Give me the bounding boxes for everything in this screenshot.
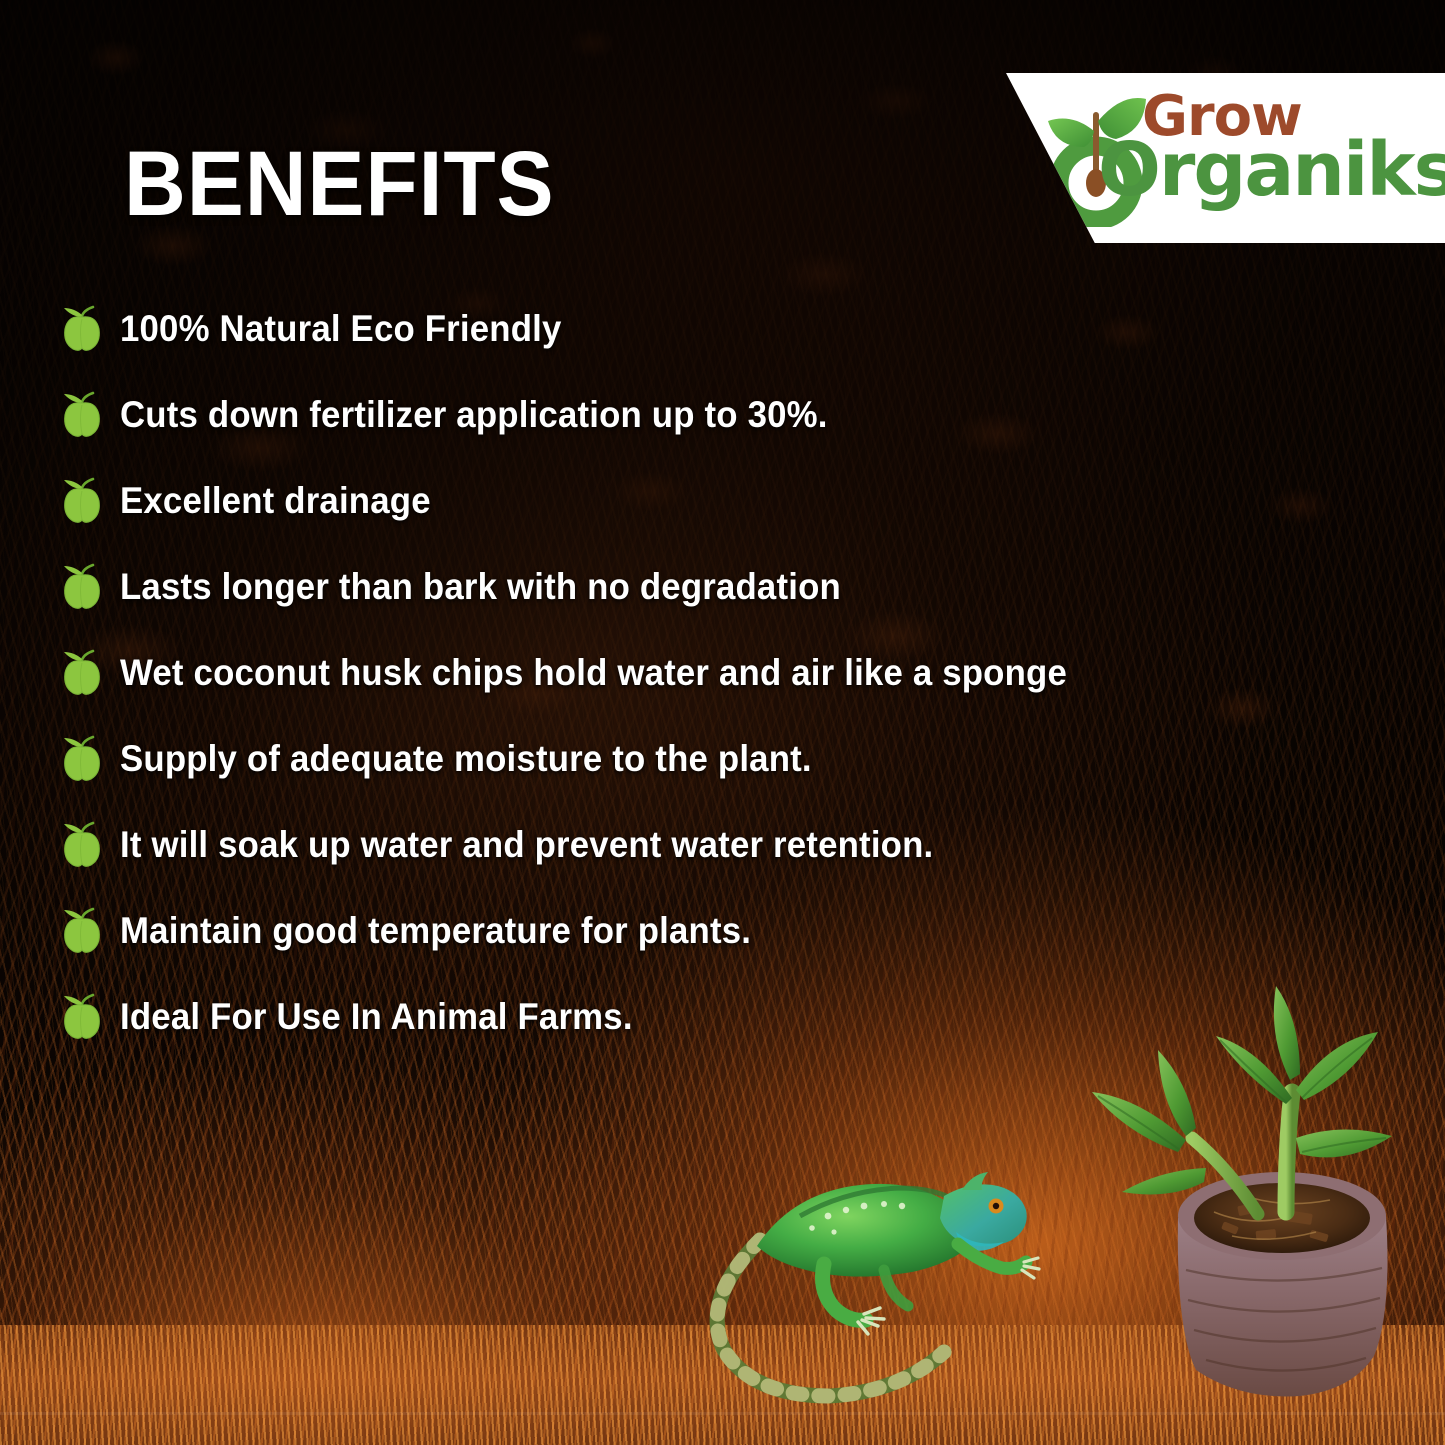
green-apple-icon	[60, 819, 104, 869]
brand-name-organiks: Organiks	[1098, 133, 1445, 207]
benefit-text: Excellent drainage	[120, 480, 431, 522]
benefit-item: Wet coconut husk chips hold water and ai…	[60, 630, 1400, 716]
green-apple-icon	[60, 991, 104, 1041]
benefit-text: Wet coconut husk chips hold water and ai…	[120, 652, 1067, 694]
brand-wordmark: Grow Organiks	[1142, 89, 1442, 231]
benefit-item: Supply of adequate moisture to the plant…	[60, 716, 1400, 802]
benefits-list: 100% Natural Eco Friendly Cuts down fert…	[60, 286, 1400, 1060]
benefit-text: Supply of adequate moisture to the plant…	[120, 738, 812, 780]
product-benefits-infographic: BENEFITS	[0, 0, 1445, 1445]
green-apple-icon	[60, 561, 104, 611]
benefit-item: Excellent drainage	[60, 458, 1400, 544]
benefit-item: Cuts down fertilizer application up to 3…	[60, 372, 1400, 458]
benefit-text: Lasts longer than bark with no degradati…	[120, 566, 841, 608]
benefit-item: Ideal For Use In Animal Farms.	[60, 974, 1400, 1060]
photo-seam-line	[0, 1412, 1445, 1415]
green-apple-icon	[60, 905, 104, 955]
benefit-text: It will soak up water and prevent water …	[120, 824, 933, 866]
green-apple-icon	[60, 475, 104, 525]
benefit-item: It will soak up water and prevent water …	[60, 802, 1400, 888]
benefit-item: Lasts longer than bark with no degradati…	[60, 544, 1400, 630]
page-title: BENEFITS	[124, 138, 555, 230]
benefit-item: Maintain good temperature for plants.	[60, 888, 1400, 974]
green-apple-icon	[60, 303, 104, 353]
green-apple-icon	[60, 733, 104, 783]
green-apple-icon	[60, 389, 104, 439]
benefit-text: Maintain good temperature for plants.	[120, 910, 751, 952]
benefit-text: 100% Natural Eco Friendly	[120, 308, 562, 350]
benefit-text: Ideal For Use In Animal Farms.	[120, 996, 633, 1038]
benefit-text: Cuts down fertilizer application up to 3…	[120, 394, 828, 436]
green-apple-icon	[60, 647, 104, 697]
coir-bottom-fiber-strip	[0, 1325, 1445, 1445]
benefit-item: 100% Natural Eco Friendly	[60, 286, 1400, 372]
